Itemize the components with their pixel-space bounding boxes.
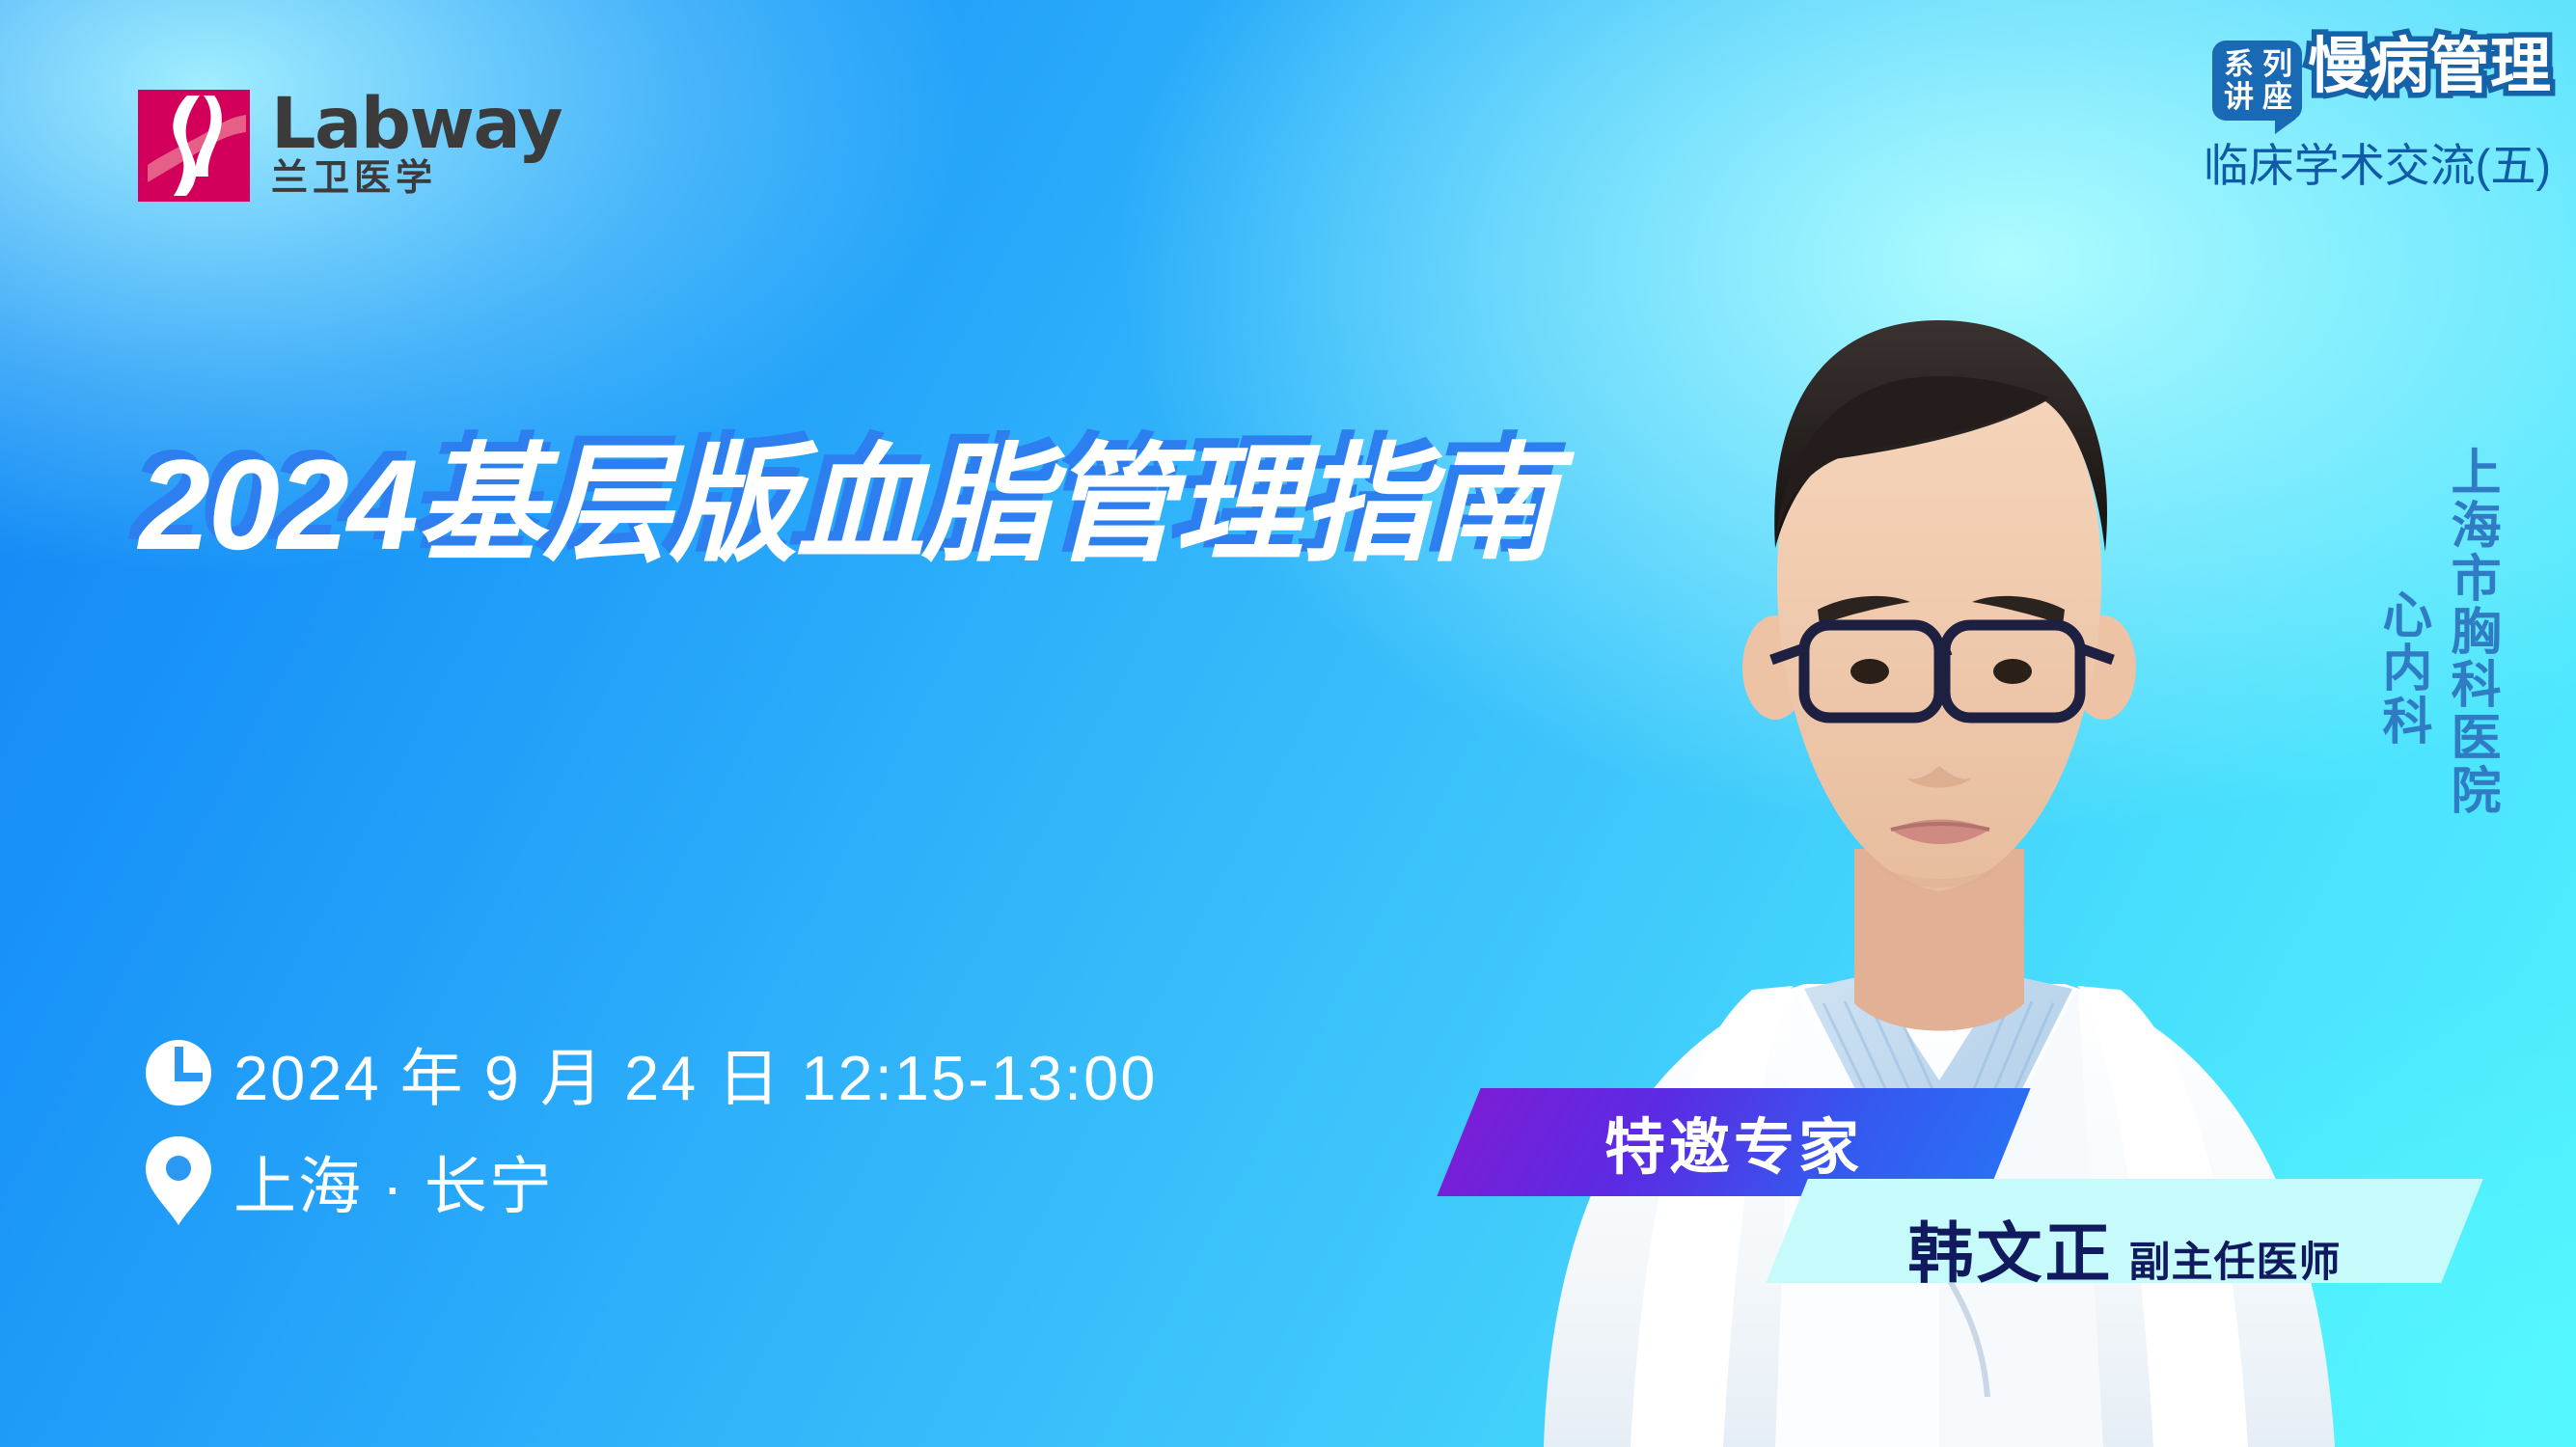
speaker-name-badge-inner: 韩文正 副主任医师 <box>1787 1179 2462 1283</box>
event-date-text: 2024 年 9 月 24 日 12:15-13:00 <box>233 1027 1157 1118</box>
speaker-name-badge: 韩文正 副主任医师 <box>1766 1179 2483 1283</box>
brand-logo: Labway 兰卫医学 <box>138 90 562 202</box>
speaker-affiliation-block: 心内科 上海市胸科医院 <box>2375 446 2497 817</box>
series-tag-char-3: 讲 <box>2224 81 2254 113</box>
series-headline: 慢病管理 <box>2308 37 2551 97</box>
series-tag-char-4: 座 <box>2262 81 2292 113</box>
labway-helix-logo-icon <box>138 90 250 202</box>
event-location-text: 上海 · 长宁 <box>233 1135 554 1226</box>
speaker-name: 韩文正 <box>1907 1200 2113 1296</box>
series-lecture-tag-grid: 系 列 讲 座 <box>2224 48 2292 113</box>
series-tag-char-1: 系 <box>2224 48 2254 80</box>
event-location-row: 上海 · 长宁 <box>141 1138 1157 1223</box>
clock-icon <box>141 1035 220 1110</box>
event-info: 2024 年 9 月 24 日 12:15-13:00 上海 · 长宁 <box>141 1030 1157 1223</box>
series-headline-row: 系 列 讲 座 慢病管理 <box>2204 37 2551 121</box>
brand-name-en: Labway <box>271 92 562 156</box>
speaker-affiliation: 上海市胸科医院 <box>2444 446 2497 817</box>
series-badge-block: 系 列 讲 座 慢病管理 临床学术交流(五) <box>2204 37 2551 195</box>
location-pin-icon <box>141 1134 220 1227</box>
brand-logo-text: Labway 兰卫医学 <box>271 92 562 201</box>
series-tag-char-2: 列 <box>2262 48 2292 80</box>
speaker-department: 心内科 <box>2375 588 2428 748</box>
series-lecture-tag: 系 列 讲 座 <box>2212 41 2302 121</box>
speaker-job-title: 副主任医师 <box>2129 1229 2342 1289</box>
poster-title: 2024基层版血脂管理指南 <box>139 439 1554 572</box>
event-date-row: 2024 年 9 月 24 日 12:15-13:00 <box>141 1030 1157 1115</box>
poster-canvas: Labway 兰卫医学 系 列 讲 座 慢病管理 临床学术交流(五) 2024基… <box>0 0 2576 1447</box>
